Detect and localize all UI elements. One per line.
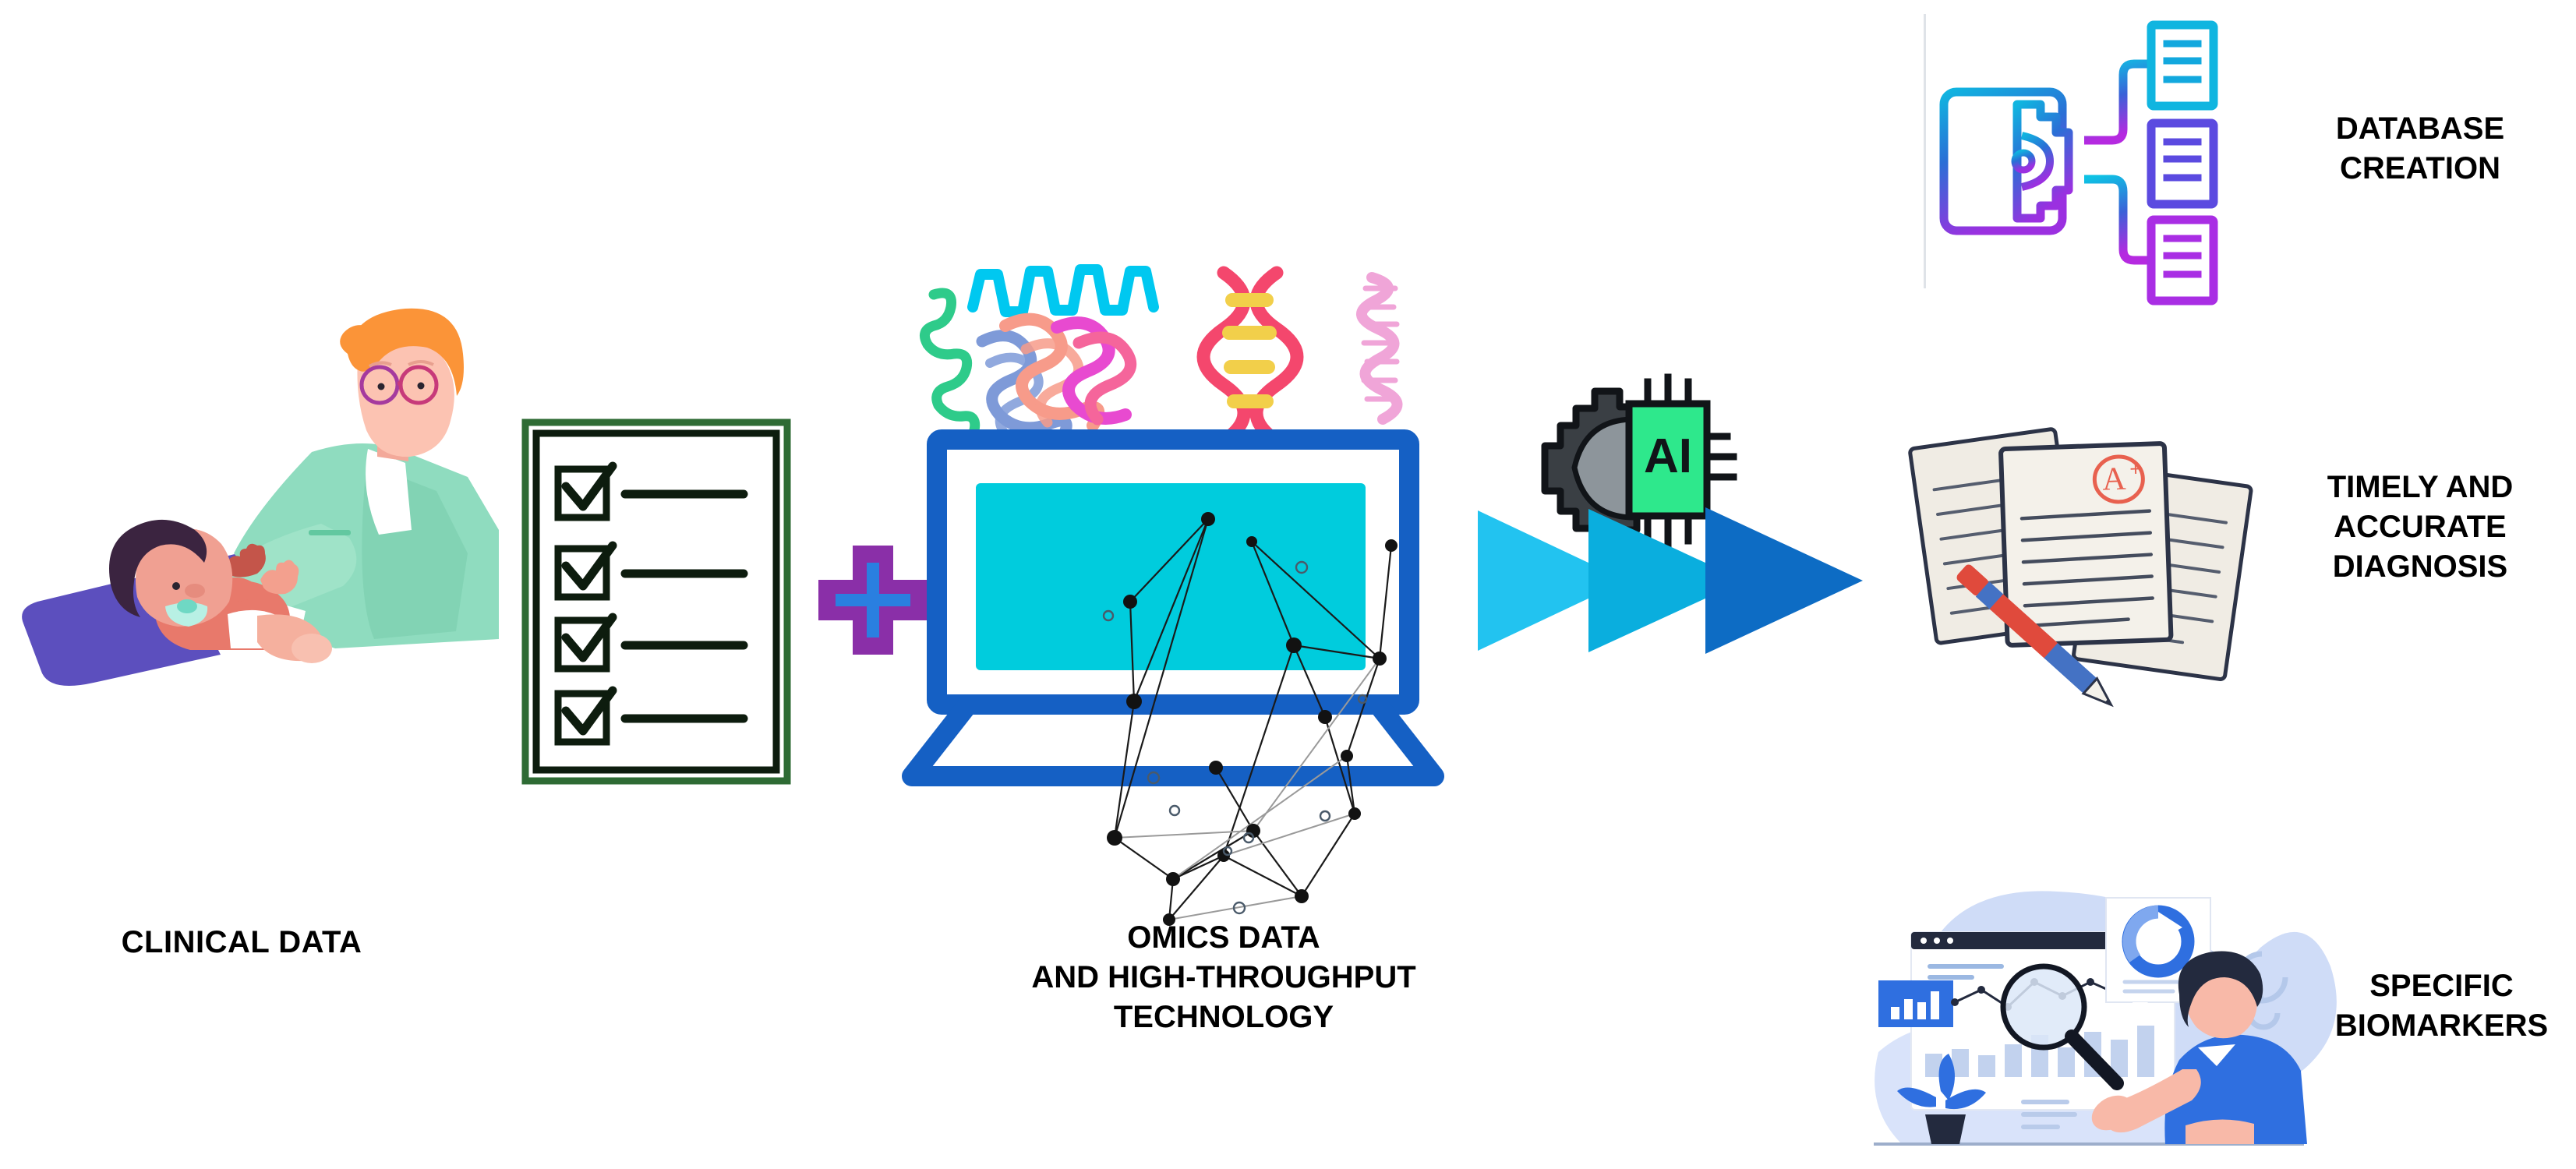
ai-chip-label: AI: [1644, 429, 1692, 483]
label-omics-line3: TECHNOLOGY: [951, 998, 1496, 1037]
db-document-card: [2151, 123, 2214, 204]
lightpink-helix-rungs: [1364, 288, 1397, 399]
doctor-baby-svg: [0, 296, 499, 701]
laptop-svg: [896, 405, 1520, 811]
baby-eye: [172, 582, 180, 590]
baby-pacifier-nub: [177, 599, 197, 613]
dna-rung: [1225, 293, 1274, 307]
laptop-with-network: [896, 405, 1520, 811]
arrow-3-dark[interactable]: [1705, 507, 1863, 654]
doctor-eye-left: [378, 383, 385, 390]
baby-foot: [292, 634, 332, 663]
label-diagnosis-line3: DIAGNOSIS: [2284, 547, 2557, 587]
biomarkers-svg: [1871, 857, 2369, 1169]
server-leds: [1963, 108, 1983, 215]
laptop-base: [912, 705, 1434, 776]
biomarkers-illustration: [1871, 857, 2369, 1169]
cyan-wave-icon: [973, 270, 1154, 312]
dashboard-dots: [1921, 938, 1953, 944]
arrows-svg: [1473, 503, 1886, 659]
label-biomarkers-line2: BIOMARKERS: [2307, 1006, 2576, 1046]
dna-rung: [1222, 326, 1277, 340]
diagnosis-papers-icon: A +: [1917, 413, 2253, 709]
baby-cheek: [185, 584, 205, 598]
laptop-screen: [976, 483, 1366, 670]
bar-chart-tile: [1878, 980, 1953, 1027]
arrow-1-light[interactable]: [1478, 510, 1590, 651]
papers-svg: A +: [1917, 413, 2253, 709]
label-diagnosis-line2: ACCURATE: [2284, 507, 2557, 547]
doctor-pocket-stripe: [309, 530, 351, 535]
arrow-2-mid[interactable]: [1588, 509, 1707, 652]
vertical-divider: [1924, 14, 1926, 288]
label-specific-biomarkers: SPECIFIC BIOMARKERS: [2307, 966, 2576, 1046]
label-biomarkers-line1: SPECIFIC: [2307, 966, 2576, 1006]
label-database-line1: DATABASE: [2292, 109, 2549, 149]
label-database-creation: DATABASE CREATION: [2292, 109, 2549, 189]
db-connector-bottom: [2084, 179, 2148, 260]
person-hand-resting: [2186, 1119, 2254, 1144]
grade-stamp-letter: A: [2101, 461, 2127, 498]
label-diagnosis-line1: TIMELY AND: [2284, 468, 2557, 507]
label-omics-line2: AND HIGH-THROUGHPUT: [951, 958, 1496, 998]
checklist-svg: [516, 413, 804, 795]
grade-stamp-plus: +: [2129, 457, 2142, 481]
label-clinical-data: CLINICAL DATA: [47, 923, 436, 962]
progress-arrows: [1473, 503, 1886, 659]
label-omics-line1: OMICS DATA: [951, 918, 1496, 958]
database-creation-icon: [1931, 11, 2243, 307]
dna-rung: [1224, 360, 1275, 374]
label-omics-data: OMICS DATA AND HIGH-THROUGHPUT TECHNOLOG…: [951, 918, 1496, 1038]
diagram-canvas: AI: [0, 0, 2576, 1165]
clinical-checklist: [516, 413, 804, 795]
label-timely-accurate-diagnosis: TIMELY AND ACCURATE DIAGNOSIS: [2284, 468, 2557, 588]
db-document-card: [2151, 25, 2214, 106]
db-connector-top: [2084, 64, 2148, 140]
doctor-eye-right: [418, 383, 425, 390]
db-document-card: [2151, 220, 2214, 301]
clinical-data-illustration: [0, 296, 499, 701]
label-database-line2: CREATION: [2292, 149, 2549, 189]
database-svg: [1931, 11, 2243, 307]
